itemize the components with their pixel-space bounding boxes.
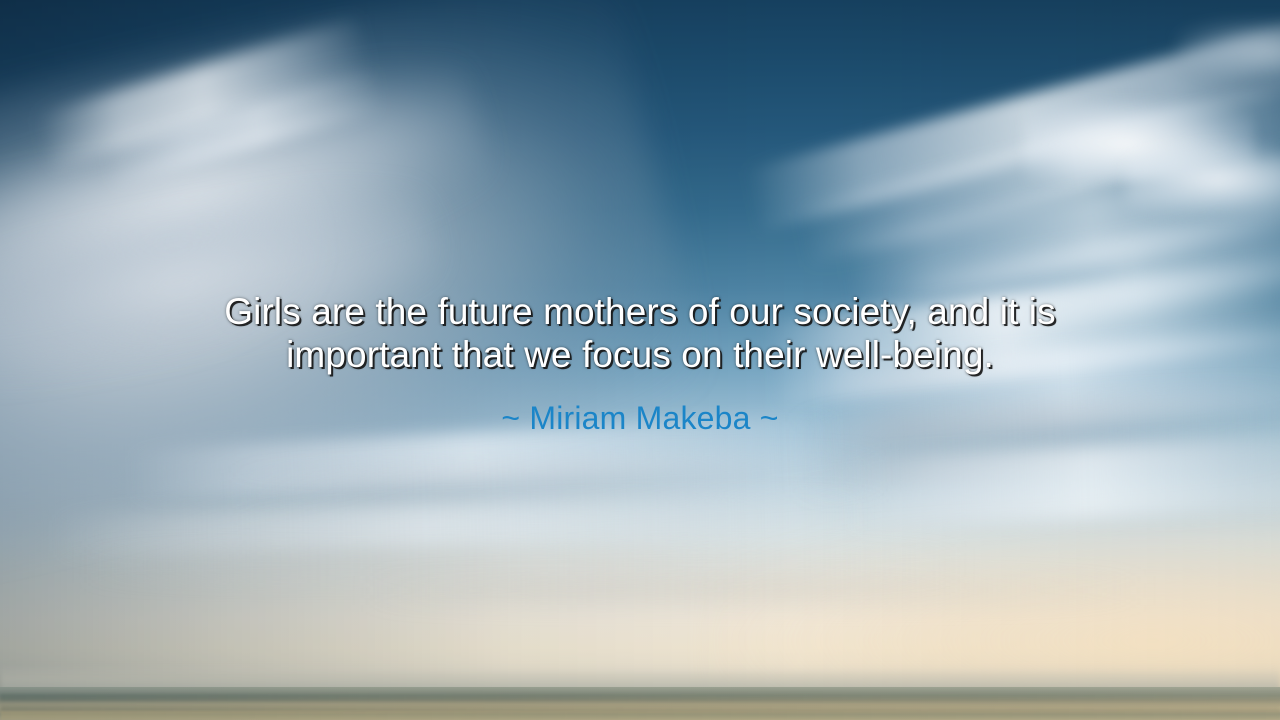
quote-attribution: ~ Miriam Makeba ~	[100, 400, 1180, 436]
quote-image-canvas: Girls are the future mothers of our soci…	[0, 0, 1280, 720]
quote-text: Girls are the future mothers of our soci…	[100, 290, 1180, 376]
ground-field-strip	[0, 711, 1280, 720]
quote-block: Girls are the future mothers of our soci…	[0, 290, 1280, 436]
ground-treeline-streak-upper	[0, 694, 1280, 700]
